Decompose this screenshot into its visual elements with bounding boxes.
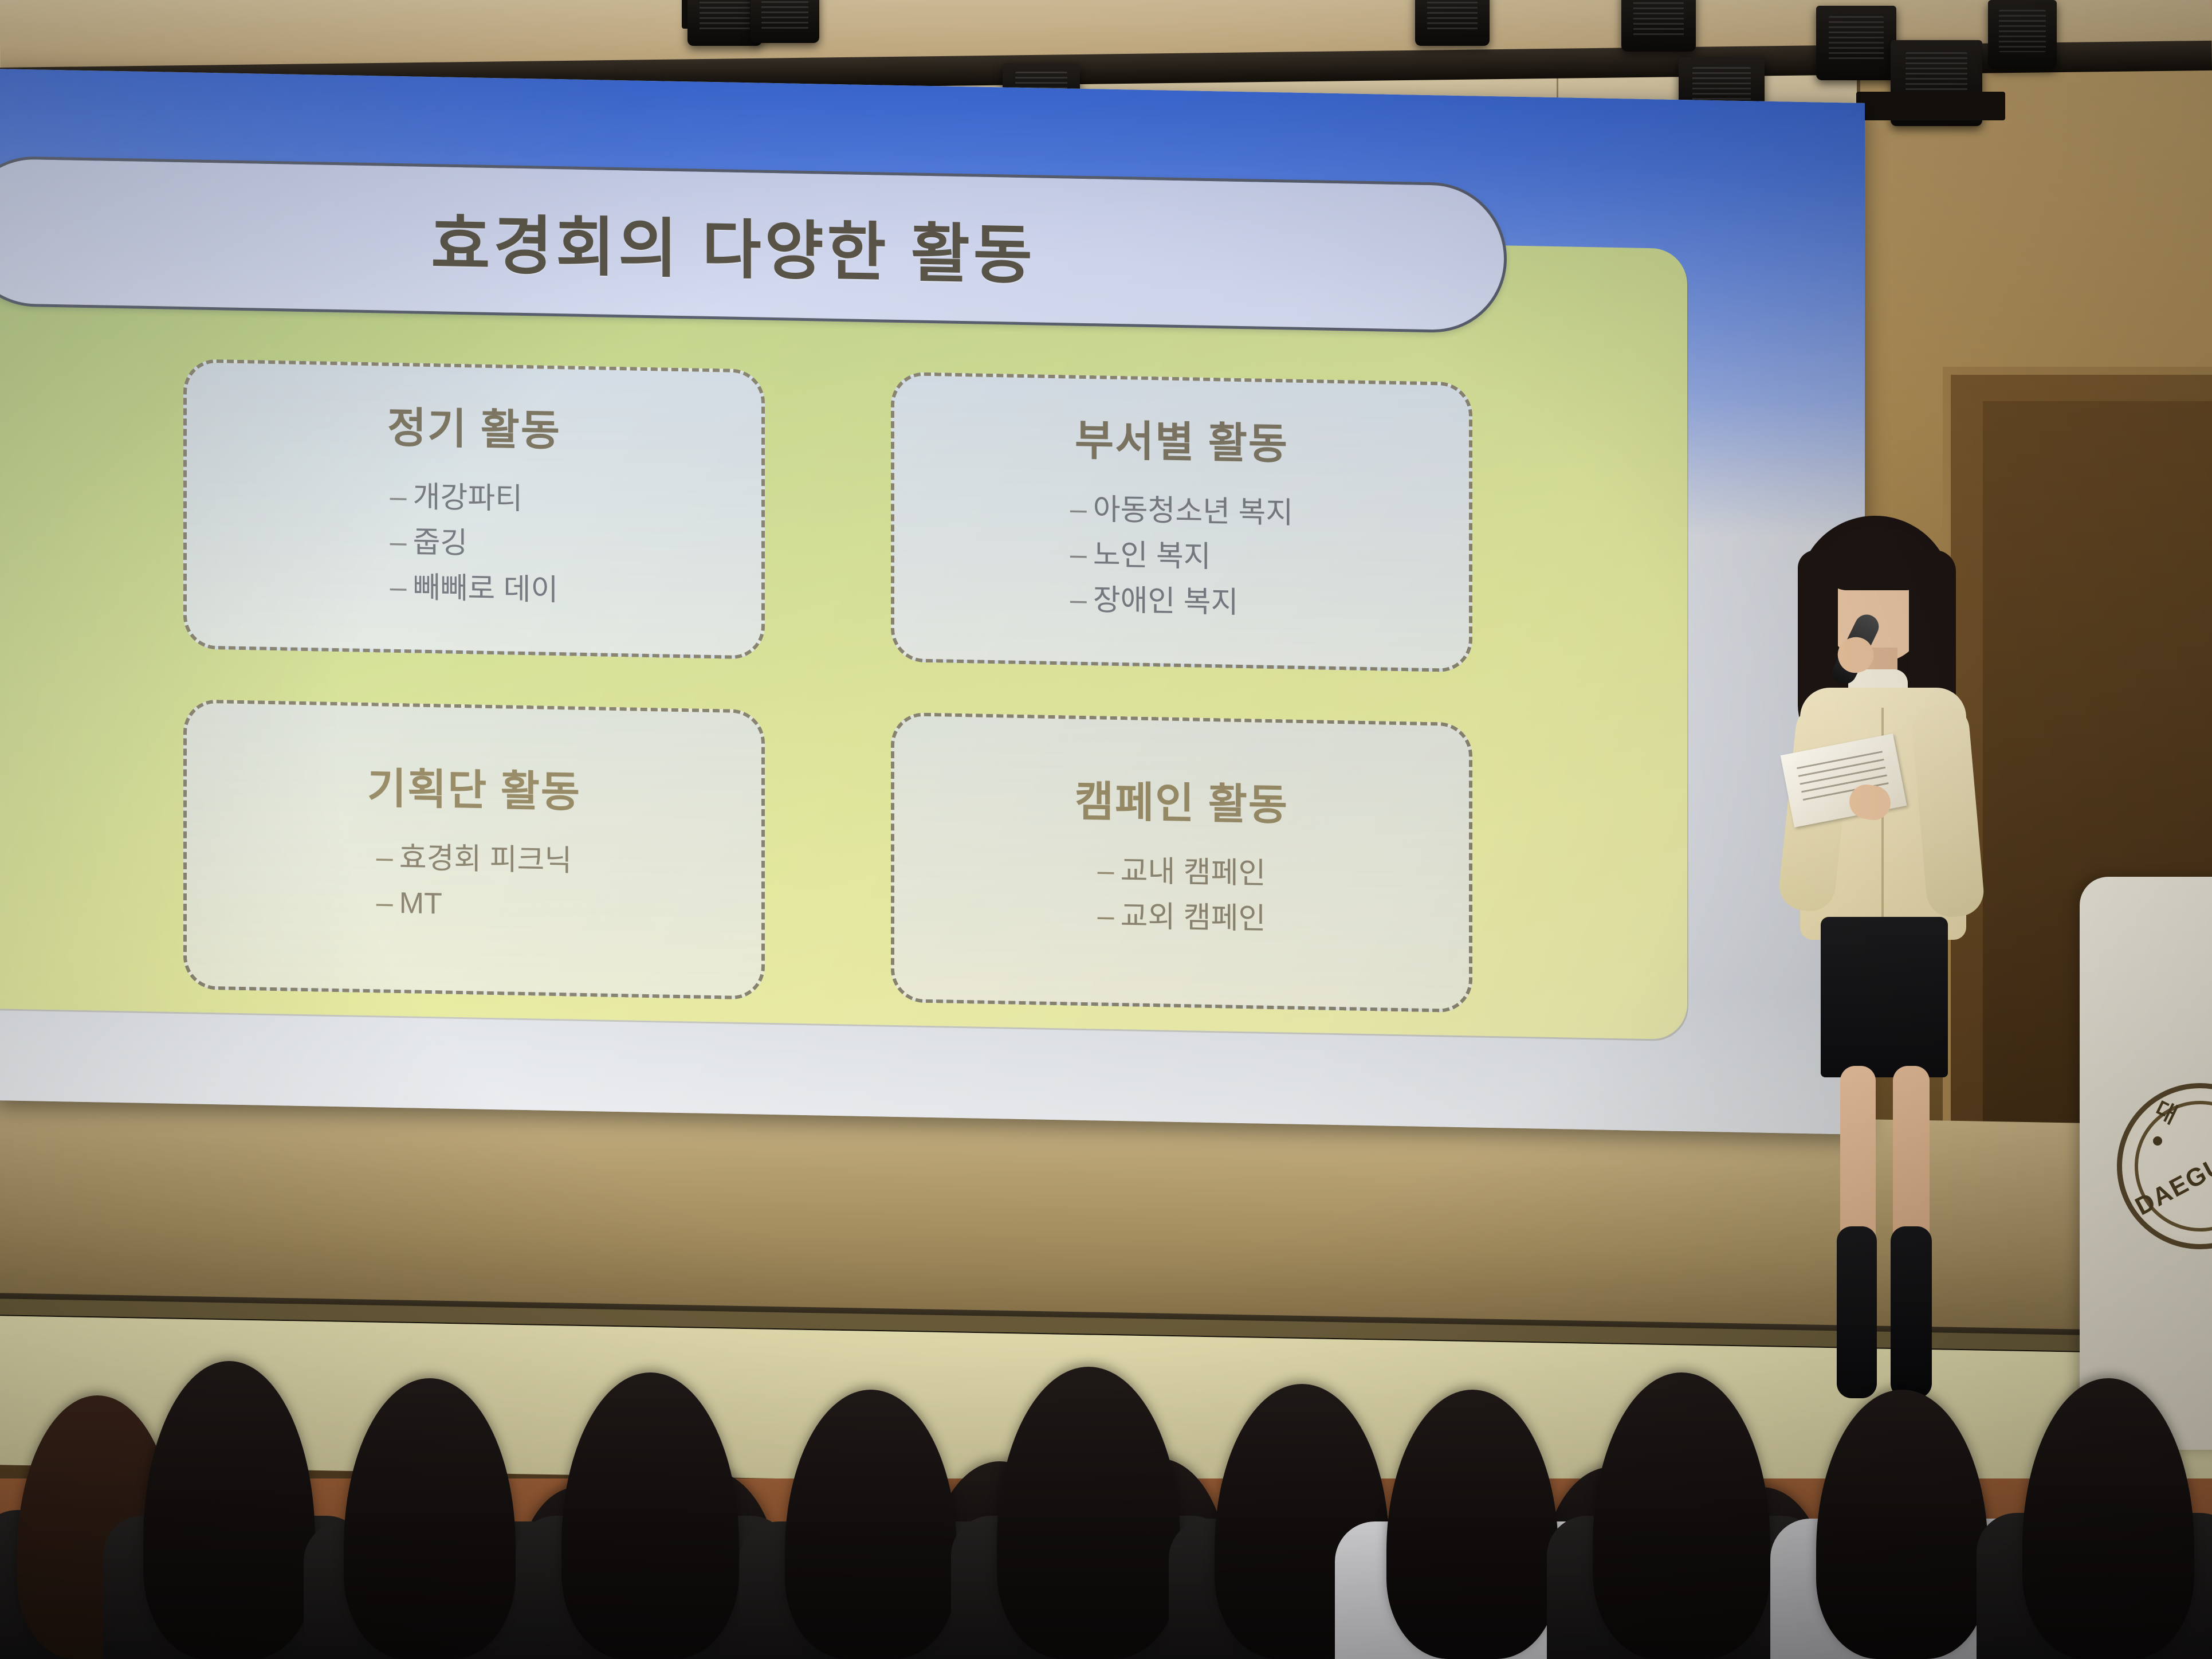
card-item-list: –효경회 피크닉 –MT <box>376 835 572 929</box>
slide-title-banner: 효경회의 다양한 활동 <box>0 155 1507 334</box>
auditorium-scene: 효경회의 다양한 활동 정기 활동 –개강파티 –줍깅 –빼빼로 데이 부서별 … <box>0 0 2212 1659</box>
list-item-label: 빼빼로 데이 <box>413 571 559 607</box>
card-heading: 기획단 활동 <box>367 754 581 819</box>
presenter <box>1776 516 2017 1410</box>
stage-light-4 <box>1415 0 1490 46</box>
list-item: –아동청소년 복지 <box>1070 487 1293 536</box>
list-item: –교외 캠페인 <box>1098 893 1266 942</box>
list-item: –빼빼로 데이 <box>390 565 559 613</box>
list-item-label: 노인 복지 <box>1093 538 1211 574</box>
bullet-dash-icon: – <box>376 835 399 881</box>
list-item: –효경회 피크닉 <box>376 835 572 884</box>
activity-card-grid: 정기 활동 –개강파티 –줍깅 –빼빼로 데이 부서별 활동 –아동청소년 복지… <box>183 359 1472 1013</box>
audience-head <box>1386 1390 1558 1659</box>
presentation-slide: 효경회의 다양한 활동 정기 활동 –개강파티 –줍깅 –빼빼로 데이 부서별 … <box>0 69 1865 1135</box>
list-item-label: MT <box>399 887 442 920</box>
audience-head <box>785 1390 957 1659</box>
bullet-dash-icon: – <box>390 565 413 611</box>
activity-card-department: 부서별 활동 –아동청소년 복지 –노인 복지 –장애인 복지 <box>891 372 1472 673</box>
bullet-dash-icon: – <box>390 520 413 566</box>
list-item: –노인 복지 <box>1070 532 1293 582</box>
presenter-leg-right <box>1893 1066 1930 1249</box>
list-item-label: 교내 캠페인 <box>1121 854 1266 891</box>
stage-light-yoke-2 <box>1856 92 2005 120</box>
bullet-dash-icon: – <box>1070 532 1093 578</box>
audience-head <box>143 1361 315 1659</box>
activity-card-planning: 기획단 활동 –효경회 피크닉 –MT <box>183 699 765 1000</box>
list-item: –장애인 복지 <box>1070 578 1293 627</box>
card-heading: 부서별 활동 <box>1075 406 1288 472</box>
bullet-dash-icon: – <box>1070 487 1093 532</box>
card-item-list: –아동청소년 복지 –노인 복지 –장애인 복지 <box>1070 487 1293 626</box>
audience-head <box>997 1367 1180 1659</box>
card-item-list: –교내 캠페인 –교외 캠페인 <box>1098 848 1266 942</box>
list-item-label: 줍깅 <box>413 526 468 560</box>
activity-card-regular: 정기 활동 –개강파티 –줍깅 –빼빼로 데이 <box>183 359 765 660</box>
list-item-label: 장애인 복지 <box>1093 583 1239 619</box>
emblem-dot-icon <box>2153 1136 2162 1146</box>
presenter-leg-left <box>1840 1066 1876 1249</box>
audience-head <box>344 1378 516 1659</box>
list-item: –교내 캠페인 <box>1098 848 1266 896</box>
stage-light-2 <box>751 0 819 43</box>
list-item-label: 아동청소년 복지 <box>1093 493 1293 530</box>
bullet-dash-icon: – <box>390 474 413 520</box>
audience <box>0 1324 2212 1659</box>
list-item-label: 효경회 피크닉 <box>399 841 572 878</box>
list-item-label: 교외 캠페인 <box>1121 900 1266 936</box>
bullet-dash-icon: – <box>1098 893 1121 939</box>
bullet-dash-icon: – <box>1098 848 1121 894</box>
stage-light-5 <box>1621 0 1696 52</box>
card-item-list: –개강파티 –줍깅 –빼빼로 데이 <box>390 474 559 613</box>
stage-light-7 <box>1816 6 1896 80</box>
audience-head <box>561 1372 739 1659</box>
list-item-label: 개강파티 <box>413 480 522 516</box>
presenter-skirt <box>1821 917 1948 1077</box>
audience-head <box>2022 1378 2194 1659</box>
audience-head <box>1816 1390 1988 1659</box>
card-heading: 정기 활동 <box>387 394 561 458</box>
list-item: –줍깅 <box>390 520 559 568</box>
bullet-dash-icon: – <box>1070 578 1093 623</box>
stage-light-9 <box>1988 0 2057 69</box>
activity-card-campaign: 캠페인 활동 –교내 캠페인 –교외 캠페인 <box>891 712 1472 1013</box>
page-title: 효경회의 다양한 활동 <box>431 193 1036 296</box>
list-item: –MT <box>376 880 572 929</box>
audience-head <box>1593 1372 1770 1659</box>
projection-screen: 효경회의 다양한 활동 정기 활동 –개강파티 –줍깅 –빼빼로 데이 부서별 … <box>0 69 1865 1135</box>
card-heading: 캠페인 활동 <box>1075 767 1288 833</box>
list-item: –개강파티 <box>390 474 559 523</box>
bullet-dash-icon: – <box>376 880 399 926</box>
